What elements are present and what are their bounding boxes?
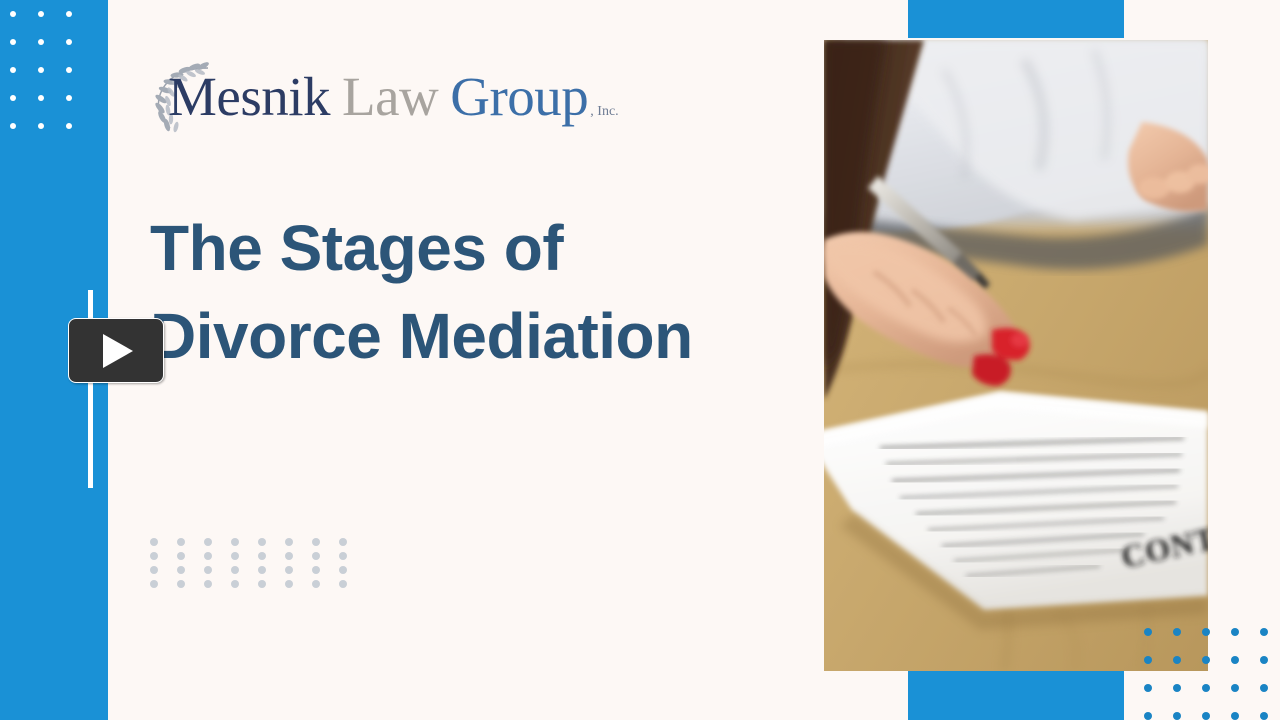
decorative-dot: [150, 538, 158, 546]
decorative-dot: [177, 580, 185, 588]
decorative-dot: [1144, 656, 1152, 664]
slide-title-line-2: Divorce Mediation: [150, 292, 790, 380]
decorative-dot: [1144, 712, 1152, 720]
decorative-dot: [10, 11, 16, 17]
decorative-dot: [339, 580, 347, 588]
decorative-dot: [1173, 712, 1181, 720]
decorative-dot: [1202, 684, 1210, 692]
decorative-dot: [339, 538, 347, 546]
decorative-dot: [150, 580, 158, 588]
play-triangle-icon: [103, 334, 133, 368]
decorative-dot: [1202, 628, 1210, 636]
logo-word-law: Law: [342, 58, 438, 136]
decorative-dot: [1260, 628, 1268, 636]
decorative-dot: [38, 11, 44, 17]
decorative-dot: [1173, 628, 1181, 636]
decorative-dot: [339, 566, 347, 574]
blue-dot-pattern: [1144, 628, 1280, 720]
decorative-dot: [10, 123, 16, 129]
decorative-dot: [312, 580, 320, 588]
video-play-button[interactable]: [68, 318, 164, 383]
logo-wordmark: Mesnik Law Group , Inc.: [168, 58, 619, 136]
decorative-dot: [285, 580, 293, 588]
decorative-dot: [10, 95, 16, 101]
decorative-dot: [231, 566, 239, 574]
logo-word-mesnik: Mesnik: [168, 58, 330, 136]
decorative-dot: [204, 552, 212, 560]
decorative-dot: [312, 538, 320, 546]
decorative-dot: [66, 95, 72, 101]
slide-title-line-1: The Stages of: [150, 204, 790, 292]
decorative-dot: [231, 552, 239, 560]
slide-title: The Stages of Divorce Mediation: [150, 204, 790, 380]
decorative-dot: [1144, 684, 1152, 692]
decorative-dot: [1173, 656, 1181, 664]
top-accent-rectangle: [908, 0, 1124, 38]
decorative-dot: [66, 67, 72, 73]
decorative-dot: [1231, 656, 1239, 664]
decorative-dot: [204, 580, 212, 588]
decorative-dot: [204, 566, 212, 574]
decorative-dot: [285, 566, 293, 574]
company-logo[interactable]: Mesnik Law Group , Inc.: [150, 58, 550, 136]
decorative-dot: [1260, 684, 1268, 692]
decorative-dot: [231, 580, 239, 588]
bottom-accent-rectangle: [908, 671, 1124, 720]
decorative-dot: [1202, 712, 1210, 720]
sidebar-dot-pattern: [0, 0, 108, 150]
decorative-dot: [312, 566, 320, 574]
decorative-dot: [10, 39, 16, 45]
decorative-dot: [38, 67, 44, 73]
decorative-dot: [1260, 712, 1268, 720]
decorative-dot: [258, 552, 266, 560]
decorative-dot: [204, 538, 212, 546]
decorative-dot: [150, 566, 158, 574]
decorative-dot: [285, 552, 293, 560]
decorative-dot: [339, 552, 347, 560]
decorative-dot: [177, 552, 185, 560]
decorative-dot: [231, 538, 239, 546]
decorative-dot: [66, 11, 72, 17]
decorative-dot: [1202, 656, 1210, 664]
logo-word-group: Group: [450, 58, 588, 136]
decorative-dot: [38, 123, 44, 129]
decorative-dot: [1173, 684, 1181, 692]
decorative-dot: [150, 552, 158, 560]
decorative-dot: [1231, 628, 1239, 636]
decorative-dot: [258, 538, 266, 546]
decorative-dot: [258, 566, 266, 574]
decorative-dot: [312, 552, 320, 560]
gray-dot-pattern: [150, 538, 346, 590]
decorative-dot: [10, 67, 16, 73]
decorative-dot: [177, 538, 185, 546]
decorative-dot: [177, 566, 185, 574]
decorative-dot: [258, 580, 266, 588]
decorative-dot: [66, 123, 72, 129]
logo-suffix-inc: , Inc.: [590, 73, 618, 151]
decorative-dot: [1260, 656, 1268, 664]
decorative-dot: [38, 39, 44, 45]
decorative-dot: [1144, 628, 1152, 636]
decorative-dot: [66, 39, 72, 45]
presentation-slide: CONTRACT: [0, 0, 1280, 720]
decorative-dot: [1231, 712, 1239, 720]
decorative-dot: [1231, 684, 1239, 692]
decorative-dot: [285, 538, 293, 546]
decorative-dot: [38, 95, 44, 101]
hero-photo: CONTRACT: [824, 40, 1208, 671]
